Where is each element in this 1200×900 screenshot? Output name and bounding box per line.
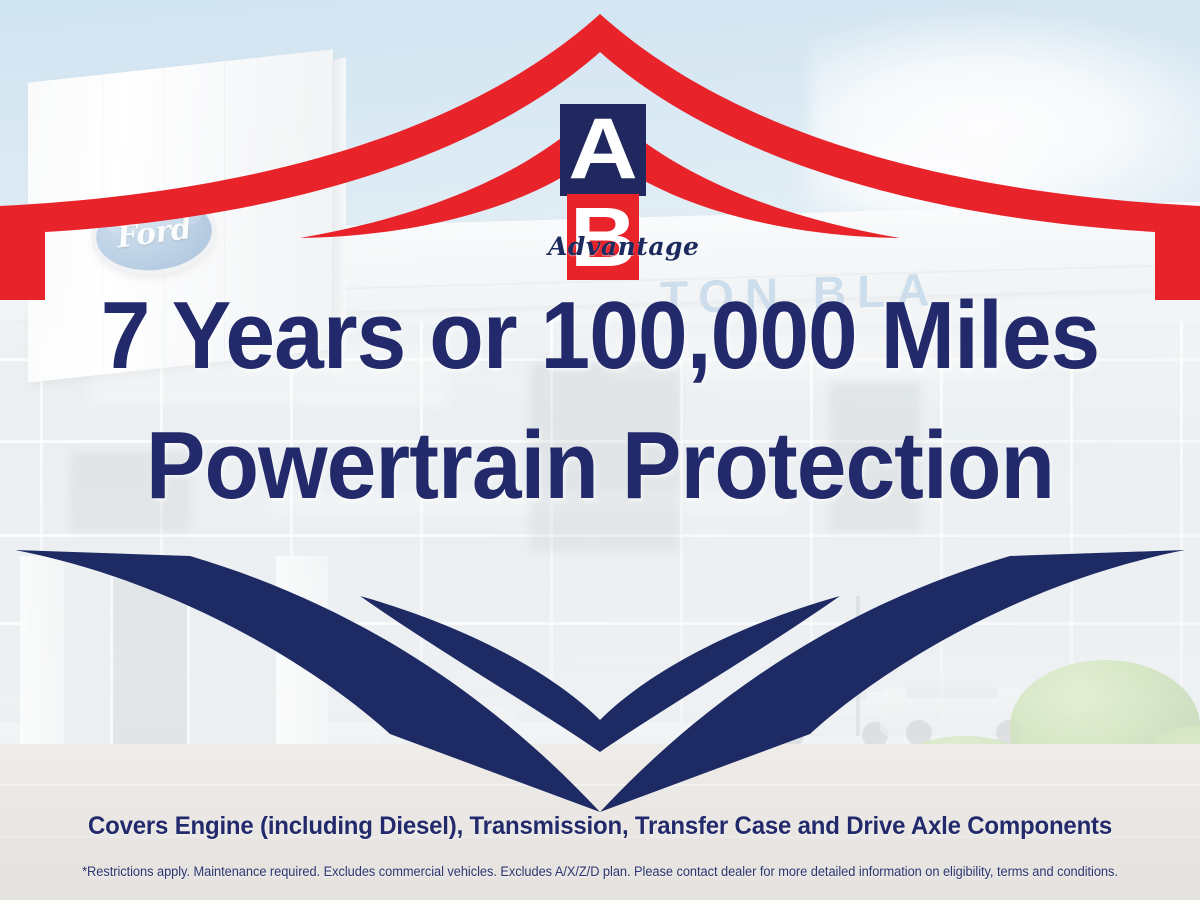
logo-letter-a: A (560, 104, 646, 196)
legal-disclaimer: *Restrictions apply. Maintenance require… (30, 864, 1170, 879)
promo-banner: TON BLA For (0, 0, 1200, 900)
headline-line-1: 7 Years or 100,000 Miles (42, 288, 1158, 384)
headline-line-2: Powertrain Protection (42, 418, 1158, 514)
navy-chevron-graphic (0, 520, 1200, 820)
ab-advantage-logo: A B Advantage (548, 104, 658, 284)
logo-wordmark: Advantage (548, 232, 658, 261)
coverage-tagline: Covers Engine (including Diesel), Transm… (24, 812, 1176, 841)
logo-letter-a-text: A (568, 113, 638, 187)
